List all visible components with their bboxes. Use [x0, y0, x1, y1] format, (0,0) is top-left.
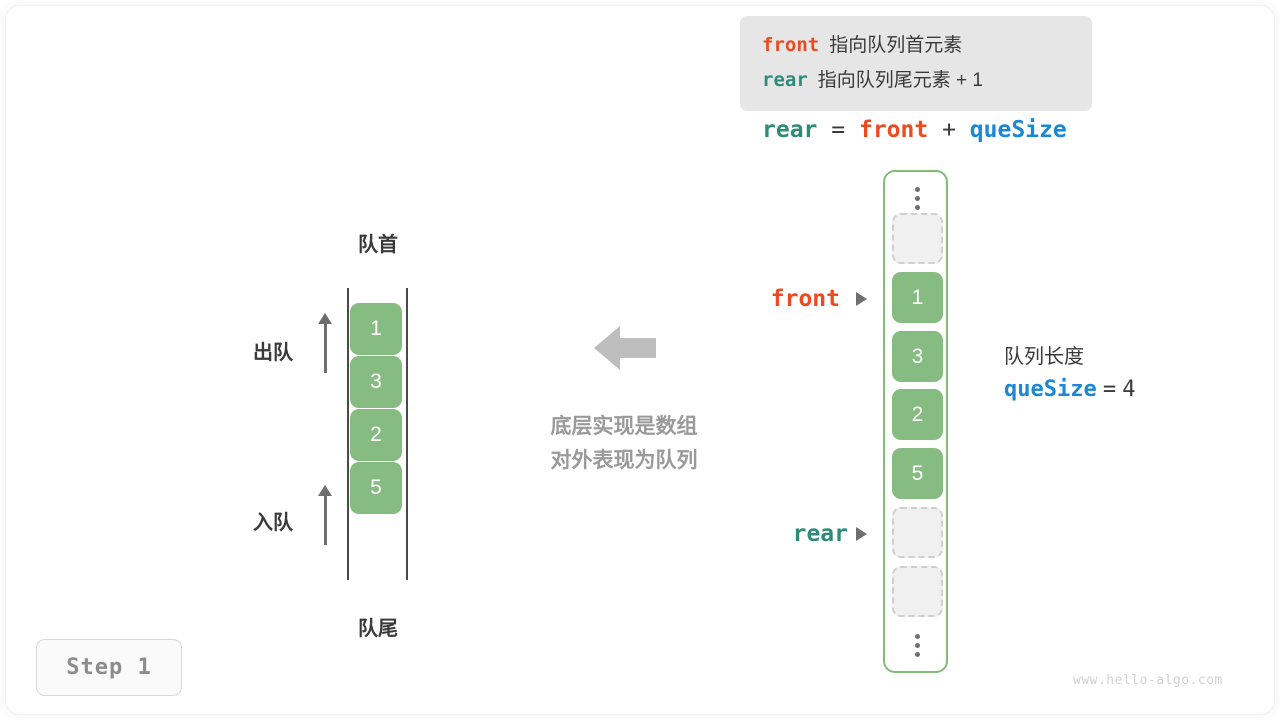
front-pointer-arrow-icon — [856, 292, 867, 306]
rear-keyword: rear — [762, 69, 808, 91]
quesize-variable: queSize — [1004, 377, 1097, 402]
rear-pointer-label: rear — [700, 521, 848, 547]
queue-head-label: 队首 — [347, 228, 409, 257]
rear-pointer-arrow-icon — [856, 527, 867, 541]
enqueue-arrow-shaft-icon — [324, 495, 327, 545]
array-container: 1 3 2 5 — [883, 170, 948, 673]
quesize-equals: = — [1103, 377, 1116, 402]
queue-item-1: 3 — [350, 356, 402, 408]
dequeue-arrow-head-icon — [318, 313, 332, 324]
pointer-definition-box: front指向队列首元素 rear指向队列尾元素 + 1 — [740, 16, 1092, 111]
array-cell-3: 2 — [892, 389, 943, 440]
front-definition-line: front指向队列首元素 — [762, 28, 1092, 63]
rear-definition-line: rear指向队列尾元素 + 1 — [762, 63, 1092, 98]
front-pointer-label: front — [700, 286, 840, 312]
queue-rail-left — [347, 288, 349, 580]
array-top-ellipsis-icon — [885, 178, 950, 218]
formula-plus: + — [942, 117, 956, 143]
front-keyword: front — [762, 34, 819, 56]
queue-size-note: 队列长度 queSize = 4 — [1004, 342, 1135, 407]
pointer-formula: rear = front + queSize — [762, 117, 1067, 143]
step-badge: Step 1 — [36, 639, 182, 696]
queue-tail-label: 队尾 — [347, 612, 409, 641]
dequeue-label: 出队 — [253, 336, 293, 365]
center-annotation: 底层实现是数组 对外表现为队列 — [528, 410, 720, 478]
center-annotation-line1: 底层实现是数组 — [528, 410, 720, 444]
enqueue-arrow-head-icon — [318, 485, 332, 496]
formula-rear: rear — [762, 117, 817, 143]
array-bottom-ellipsis-icon — [885, 625, 950, 665]
rear-definition-text: 指向队列尾元素 + 1 — [818, 70, 983, 91]
enqueue-label: 入队 — [253, 506, 293, 535]
queue-rail-right — [406, 288, 408, 580]
array-cell-4: 5 — [892, 448, 943, 499]
formula-quesize: queSize — [970, 117, 1067, 143]
formula-equals: = — [831, 117, 845, 143]
watermark: www.hello-algo.com — [1073, 673, 1223, 688]
array-cell-6 — [892, 566, 943, 617]
center-annotation-line2: 对外表现为队列 — [528, 444, 720, 478]
quesize-value: 4 — [1122, 377, 1135, 402]
queue-item-3: 5 — [350, 462, 402, 514]
diagram-canvas: front指向队列首元素 rear指向队列尾元素 + 1 rear = fron… — [0, 0, 1280, 720]
queue-size-title: 队列长度 — [1004, 342, 1135, 372]
array-cell-5 — [892, 507, 943, 558]
queue-size-expression: queSize = 4 — [1004, 372, 1135, 407]
dequeue-arrow-shaft-icon — [324, 323, 327, 373]
front-definition-text: 指向队列首元素 — [829, 35, 962, 56]
array-cell-1: 1 — [892, 272, 943, 323]
left-arrow-icon — [594, 322, 656, 374]
formula-front: front — [859, 117, 928, 143]
array-cell-2: 3 — [892, 331, 943, 382]
queue-item-0: 1 — [350, 303, 402, 355]
array-cell-0 — [892, 213, 943, 264]
queue-item-2: 2 — [350, 409, 402, 461]
